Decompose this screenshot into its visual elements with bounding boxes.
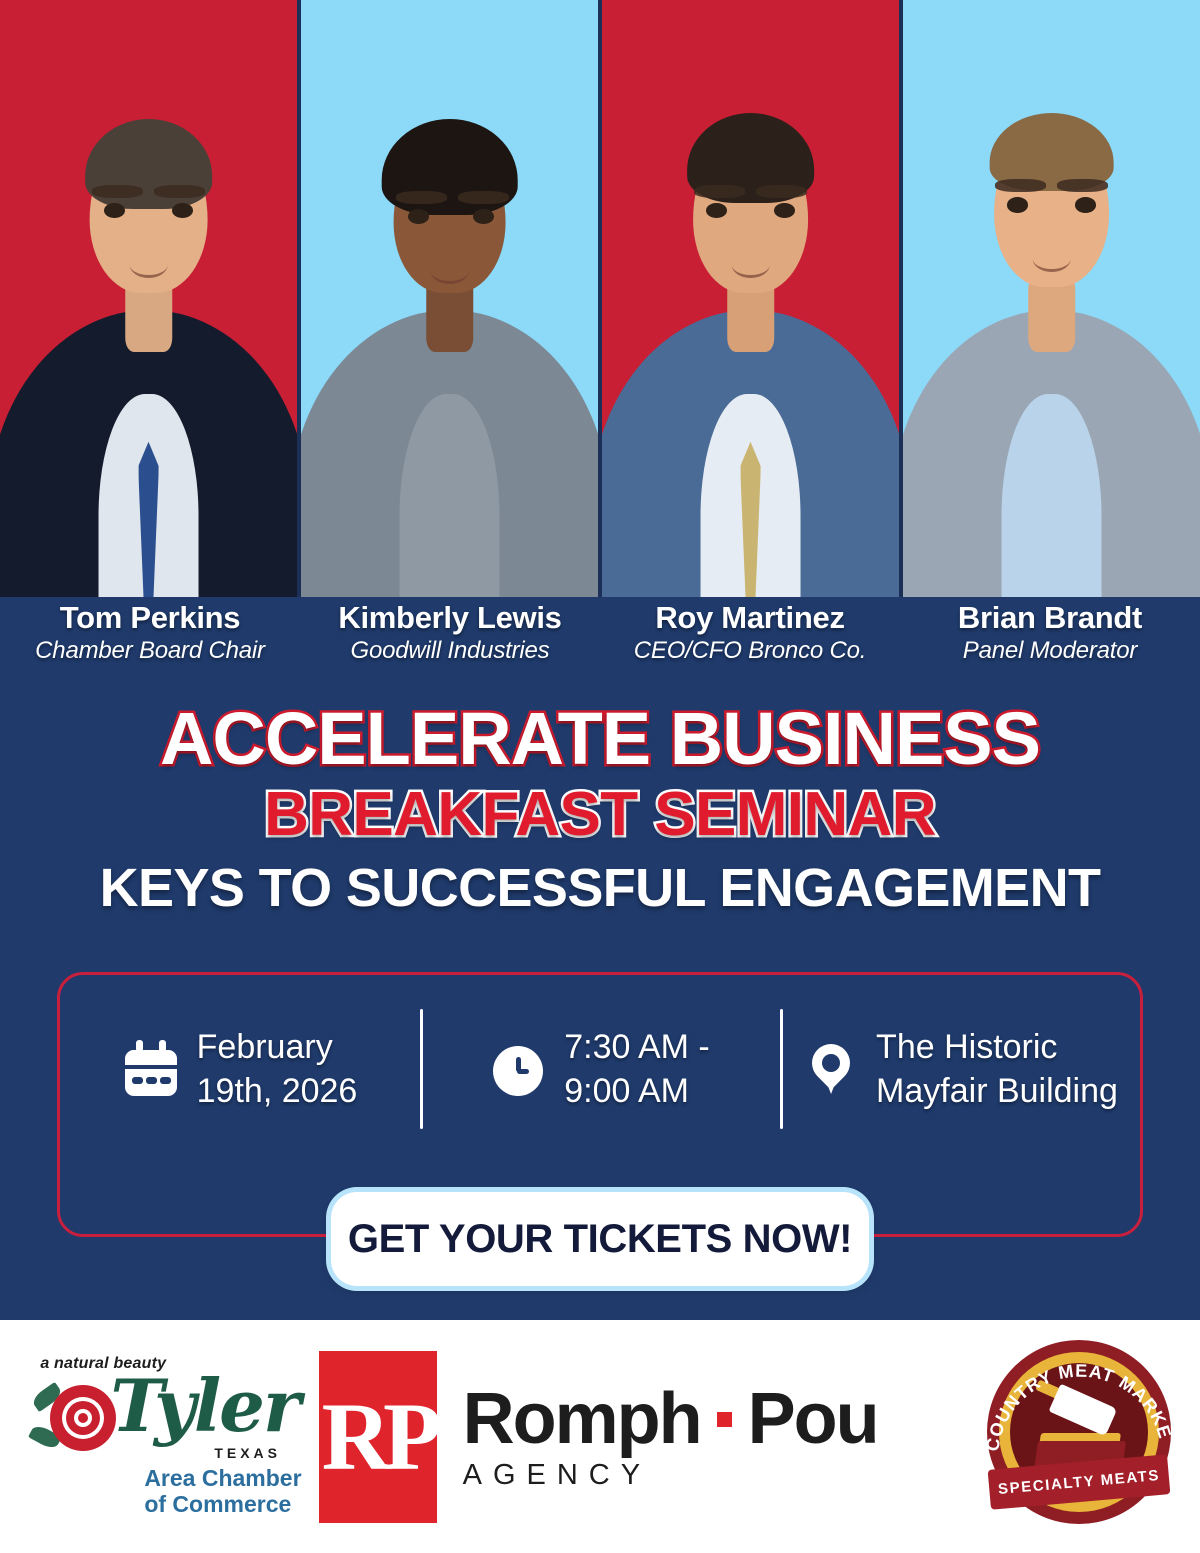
speaker-photo-strip [0,0,1200,597]
romph-pou-monogram-icon: RP [319,1351,437,1523]
romph-pou-monogram-text: RP [319,1351,437,1523]
event-title-block: ACCELERATE BUSINESS BREAKFAST SEMINAR KE… [0,700,1200,918]
speaker-name: Roy Martinez [600,600,900,636]
tyler-wordmark: Tyler [110,1363,299,1448]
speaker-caption-3: Brian Brandt Panel Moderator [900,600,1200,682]
portrait-image [903,0,1200,597]
speaker-role: Goodwill Industries [300,636,600,666]
speaker-role: Chamber Board Chair [0,636,300,666]
sponsor-tyler-chamber: a natural beauty Tyler TEXAS Area Chambe… [0,1320,319,1553]
speaker-photo-kimberly-lewis [301,0,598,597]
speaker-name: Kimberly Lewis [300,600,600,636]
romph-pou-subtitle: AGENCY [463,1459,959,1492]
portrait-image [0,0,297,597]
speaker-names-row: Tom Perkins Chamber Board Chair Kimberly… [0,600,1200,682]
sponsor-romph-pou: RP Romph Pou AGENCY [319,1320,959,1553]
tyler-org-label: Area Chamber of Commerce [144,1465,301,1517]
speaker-name: Tom Perkins [0,600,300,636]
get-tickets-button[interactable]: GET YOUR TICKETS NOW! [331,1192,869,1286]
sponsor-bar: a natural beauty Tyler TEXAS Area Chambe… [0,1320,1200,1553]
sponsor-country-meat-market: COUNTRY MEAT MARKET SPECIALTY MEATS [959,1320,1200,1553]
portrait-image [301,0,598,597]
tyler-state-label: TEXAS [214,1445,281,1461]
event-location-text: The Historic Mayfair Building [876,1025,1118,1113]
speaker-name: Brian Brandt [900,600,1200,636]
speaker-role: CEO/CFO Bronco Co. [600,636,900,666]
speaker-photo-roy-martinez [602,0,899,597]
speaker-caption-1: Kimberly Lewis Goodwill Industries [300,600,600,682]
speaker-photo-tom-perkins [0,0,297,597]
get-tickets-label: GET YOUR TICKETS NOW! [348,1217,852,1262]
pou-label: Pou [748,1381,878,1457]
title-line-3: KEYS TO SUCCESSFUL ENGAGEMENT [0,858,1200,918]
title-line-2: BREAKFAST SEMINAR [0,782,1200,848]
event-time-text: 7:30 AM - 9:00 AM [564,1025,710,1113]
event-time-item: 7:30 AM - 9:00 AM [420,989,780,1149]
map-pin-icon [802,1040,858,1098]
title-line-1: ACCELERATE BUSINESS [0,700,1200,778]
speaker-caption-0: Tom Perkins Chamber Board Chair [0,600,300,682]
romph-label: Romph [463,1381,701,1457]
separator-dot-icon [717,1412,732,1427]
speaker-photo-brian-brandt [903,0,1200,597]
event-location-item: The Historic Mayfair Building [780,989,1140,1149]
event-flyer: Tom Perkins Chamber Board Chair Kimberly… [0,0,1200,1553]
cmm-banner-label: SPECIALTY MEATS [997,1466,1160,1497]
event-date-item: February 19th, 2026 [60,989,420,1149]
calendar-icon [123,1040,179,1098]
clock-icon [490,1040,546,1098]
romph-pou-wordmark: Romph Pou [463,1381,959,1457]
svg-text:COUNTRY MEAT MARKET: COUNTRY MEAT MARKET [977,1334,1175,1453]
event-date-text: February 19th, 2026 [197,1025,358,1113]
speaker-caption-2: Roy Martinez CEO/CFO Bronco Co. [600,600,900,682]
portrait-image [602,0,899,597]
event-details-row: February 19th, 2026 7:30 AM - 9:00 AM Th… [60,989,1140,1149]
speaker-role: Panel Moderator [900,636,1200,666]
